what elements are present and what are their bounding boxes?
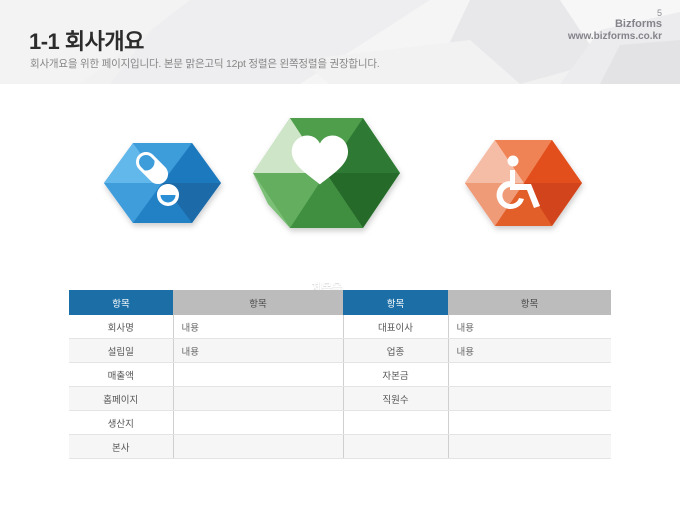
page-subtitle: 회사개요을 위한 페이지입니다. 본문 맑은고딕 12pt 정렬은 왼쪽정렬을 … xyxy=(30,56,380,71)
header-band: 1-1 회사개요 회사개요을 위한 페이지입니다. 본문 맑은고딕 12pt 정… xyxy=(0,0,680,84)
slide-canvas: 1-1 회사개요 회사개요을 위한 페이지입니다. 본문 맑은고딕 12pt 정… xyxy=(0,0,680,510)
row-value-1[interactable] xyxy=(173,435,343,459)
table-header-cell-1: 항목 xyxy=(69,290,173,315)
row-value-2[interactable] xyxy=(448,363,611,387)
page-number: 5 xyxy=(568,8,662,18)
row-value-2[interactable] xyxy=(448,387,611,411)
row-label-1: 생산지 xyxy=(69,411,173,435)
row-value-1[interactable] xyxy=(173,363,343,387)
table-header-row: 항목 항목 항목 항목 xyxy=(69,290,611,315)
row-label-2 xyxy=(343,435,448,459)
table-row[interactable]: 설립일 내용 업종 내용 xyxy=(69,339,611,363)
row-label-1: 설립일 xyxy=(69,339,173,363)
row-value-2[interactable]: 내용 xyxy=(448,315,611,339)
hexagon-graphics-group: 제목을 입력하세요 xyxy=(0,100,680,250)
row-label-1: 회사명 xyxy=(69,315,173,339)
row-label-2: 자본금 xyxy=(343,363,448,387)
table-row[interactable]: 회사명 내용 대표이사 내용 xyxy=(69,315,611,339)
orange-hexagon[interactable] xyxy=(465,140,582,226)
table-row[interactable]: 홈페이지 직원수 xyxy=(69,387,611,411)
row-value-1[interactable]: 내용 xyxy=(173,315,343,339)
brand-url: www.bizforms.co.kr xyxy=(568,31,662,43)
page-title: 1-1 회사개요 xyxy=(29,24,144,56)
row-label-1: 매출액 xyxy=(69,363,173,387)
row-label-2: 직원수 xyxy=(343,387,448,411)
row-value-1[interactable] xyxy=(173,411,343,435)
blue-hexagon[interactable] xyxy=(104,143,221,223)
row-label-1: 홈페이지 xyxy=(69,387,173,411)
row-value-1[interactable] xyxy=(173,387,343,411)
table-row[interactable]: 본사 xyxy=(69,435,611,459)
brand-block: 5 Bizforms www.bizforms.co.kr xyxy=(568,8,662,42)
row-value-2[interactable] xyxy=(448,435,611,459)
row-value-1[interactable]: 내용 xyxy=(173,339,343,363)
row-value-2[interactable] xyxy=(448,411,611,435)
company-info-table: 항목 항목 항목 항목 회사명 내용 대표이사 내용 설립일 내용 업종 내용 … xyxy=(69,290,611,459)
row-label-2 xyxy=(343,411,448,435)
table-header-cell-4: 항목 xyxy=(448,290,611,315)
table-header-cell-3: 항목 xyxy=(343,290,448,315)
row-label-1: 본사 xyxy=(69,435,173,459)
brand-name: Bizforms xyxy=(568,18,662,31)
green-hexagon[interactable] xyxy=(253,118,400,228)
row-label-2: 대표이사 xyxy=(343,315,448,339)
table-row[interactable]: 매출액 자본금 xyxy=(69,363,611,387)
table-row[interactable]: 생산지 xyxy=(69,411,611,435)
table-header-cell-2: 항목 xyxy=(173,290,343,315)
row-label-2: 업종 xyxy=(343,339,448,363)
row-value-2[interactable]: 내용 xyxy=(448,339,611,363)
